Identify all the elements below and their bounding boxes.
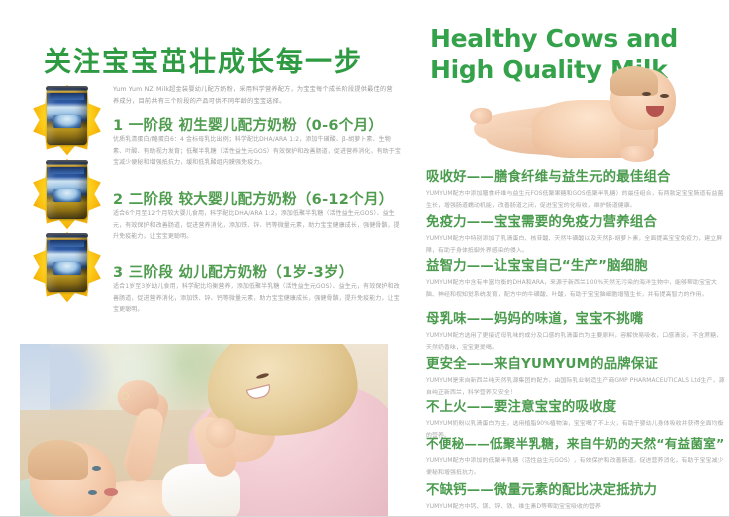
baby-mouth	[104, 488, 118, 496]
intro-paragraph: Yum Yum NZ Milk超金装婴幼儿配方奶粉，采用科学营养配方，为宝宝每个…	[113, 84, 398, 109]
product-heading: 3 三阶段 幼儿配方奶粉（1岁-3岁）	[113, 261, 354, 282]
page-title: 关注宝宝茁壮成长每一步	[44, 40, 363, 79]
baby-eye	[660, 94, 669, 98]
feature-heading: 母乳味——妈妈的味道，宝宝不挑嘴	[426, 307, 726, 327]
wedding-ring-icon	[121, 392, 129, 400]
english-headline-line1: Healthy Cows and	[430, 24, 730, 55]
feature-heading: 不便秘——低聚半乳糖，来自牛奶的天然“有益菌室”	[426, 433, 726, 452]
feature-heading: 吸收好——膳食纤维与益生元的最佳组合	[426, 165, 726, 185]
baby-eye	[92, 466, 101, 471]
feature-body: YUMYUM配方中钙、镁、锌、铁、维生素D等帮助宝宝吸收的营养	[426, 502, 726, 514]
feature-block: 吸收好——膳食纤维与益生元的最佳组合 YUMYUM配方中添加膳食纤维与益生元FO…	[426, 165, 726, 213]
feature-block: 母乳味——妈妈的味道，宝宝不挑嘴 YUMYUM配方选用了更接近母乳味的成分及口感…	[426, 307, 726, 355]
baby-eye	[88, 490, 97, 495]
brochure-page: 关注宝宝茁壮成长每一步 Yum Yum NZ Milk超金装婴幼儿配方奶粉，采用…	[0, 0, 730, 517]
crawling-baby-photo	[470, 58, 695, 163]
product-body-text: 优质乳清蛋白/酪蛋白6：4 金标母乳比出例；科学配比DHA/ARA 1:2，添加…	[113, 134, 401, 169]
feature-block: 免疫力——宝宝需要的免疫力营养组合 YUMYUM配方中特别添加了乳清蛋白、核苷酸…	[426, 210, 726, 258]
feature-body: YUMYUM配方中含有丰富均衡的DHA和ARA，来源于新西兰100%天然无污染的…	[426, 278, 726, 302]
product-heading: 1 一阶段 初生婴儿配方奶粉（0-6个月）	[113, 114, 383, 135]
baby-hand	[620, 146, 654, 162]
mother-and-baby-photo	[20, 344, 388, 517]
feature-heading: 更安全——来自YUMYUM的品牌保证	[426, 352, 726, 372]
product-can-badge-3	[25, 225, 109, 309]
feature-block: 不缺钙——微量元素的配比决定抵抗力 YUMYUM配方中钙、镁、锌、铁、维生素D等…	[426, 478, 726, 514]
feature-block: 更安全——来自YUMYUM的品牌保证 YUMYUM是来自新西兰纯天然乳源集团的配…	[426, 352, 726, 400]
left-column: 关注宝宝茁壮成长每一步 Yum Yum NZ Milk超金装婴幼儿配方奶粉，采用…	[0, 0, 412, 517]
product-heading: 2 二阶段 较大婴儿配方奶粉（6-12个月）	[113, 188, 394, 209]
baby-foot	[470, 108, 492, 124]
feature-heading: 不缺钙——微量元素的配比决定抵抗力	[426, 478, 726, 498]
feature-heading: 免疫力——宝宝需要的免疫力营养组合	[426, 210, 726, 230]
baby-hair	[610, 66, 658, 96]
feature-heading: 益智力——让宝宝自己“生产”脑细胞	[426, 254, 726, 274]
feature-heading: 不上火——要注意宝宝的吸收度	[426, 395, 726, 415]
baby-fist	[206, 418, 236, 448]
feature-body: YUMYUM配方中添加的低聚半乳糖（活性益生元GOS），有效保护和改善肠道，促进…	[426, 456, 726, 480]
milk-powder-can	[47, 88, 87, 145]
baby-hair	[28, 440, 88, 480]
baby-eye	[642, 92, 651, 96]
feature-block: 不便秘——低聚半乳糖，来自牛奶的天然“有益菌室” YUMYUM配方中添加的低聚半…	[426, 433, 726, 480]
product-can-badge-1	[25, 78, 109, 162]
product-body-text: 适合1岁至3岁幼儿食用，科学配比均衡营养，添加低聚半乳糖（活性益生元GOS）、益…	[113, 281, 401, 316]
feature-block: 益智力——让宝宝自己“生产”脑细胞 YUMYUM配方中含有丰富均衡的DHA和AR…	[426, 254, 726, 302]
right-column: Healthy Cows and High Quality Milk 吸收好——…	[412, 0, 730, 517]
product-body-text: 适合6个月至12个月较大婴儿食用，科学配比DHA/ARA 1:2，添加低聚半乳糖…	[113, 208, 401, 243]
milk-powder-can	[47, 235, 87, 292]
product-can-badge-2	[25, 152, 109, 236]
milk-powder-can	[47, 162, 87, 219]
